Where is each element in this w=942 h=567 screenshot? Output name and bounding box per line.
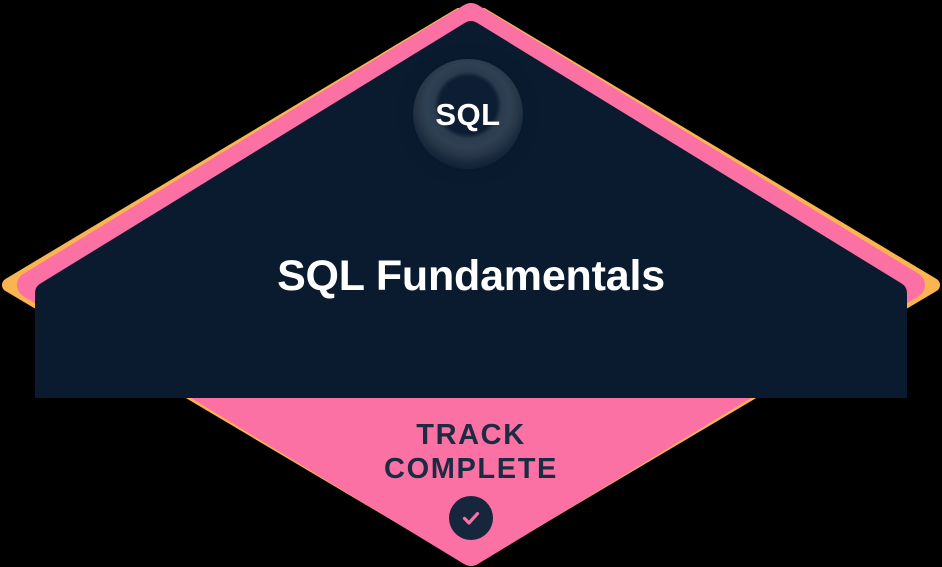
badge-stage: SQL SQL Fundamentals TRACK COMPLETE: [0, 0, 942, 567]
diamond-badge-graphic: [0, 0, 942, 567]
navy-panel: [46, 32, 896, 420]
